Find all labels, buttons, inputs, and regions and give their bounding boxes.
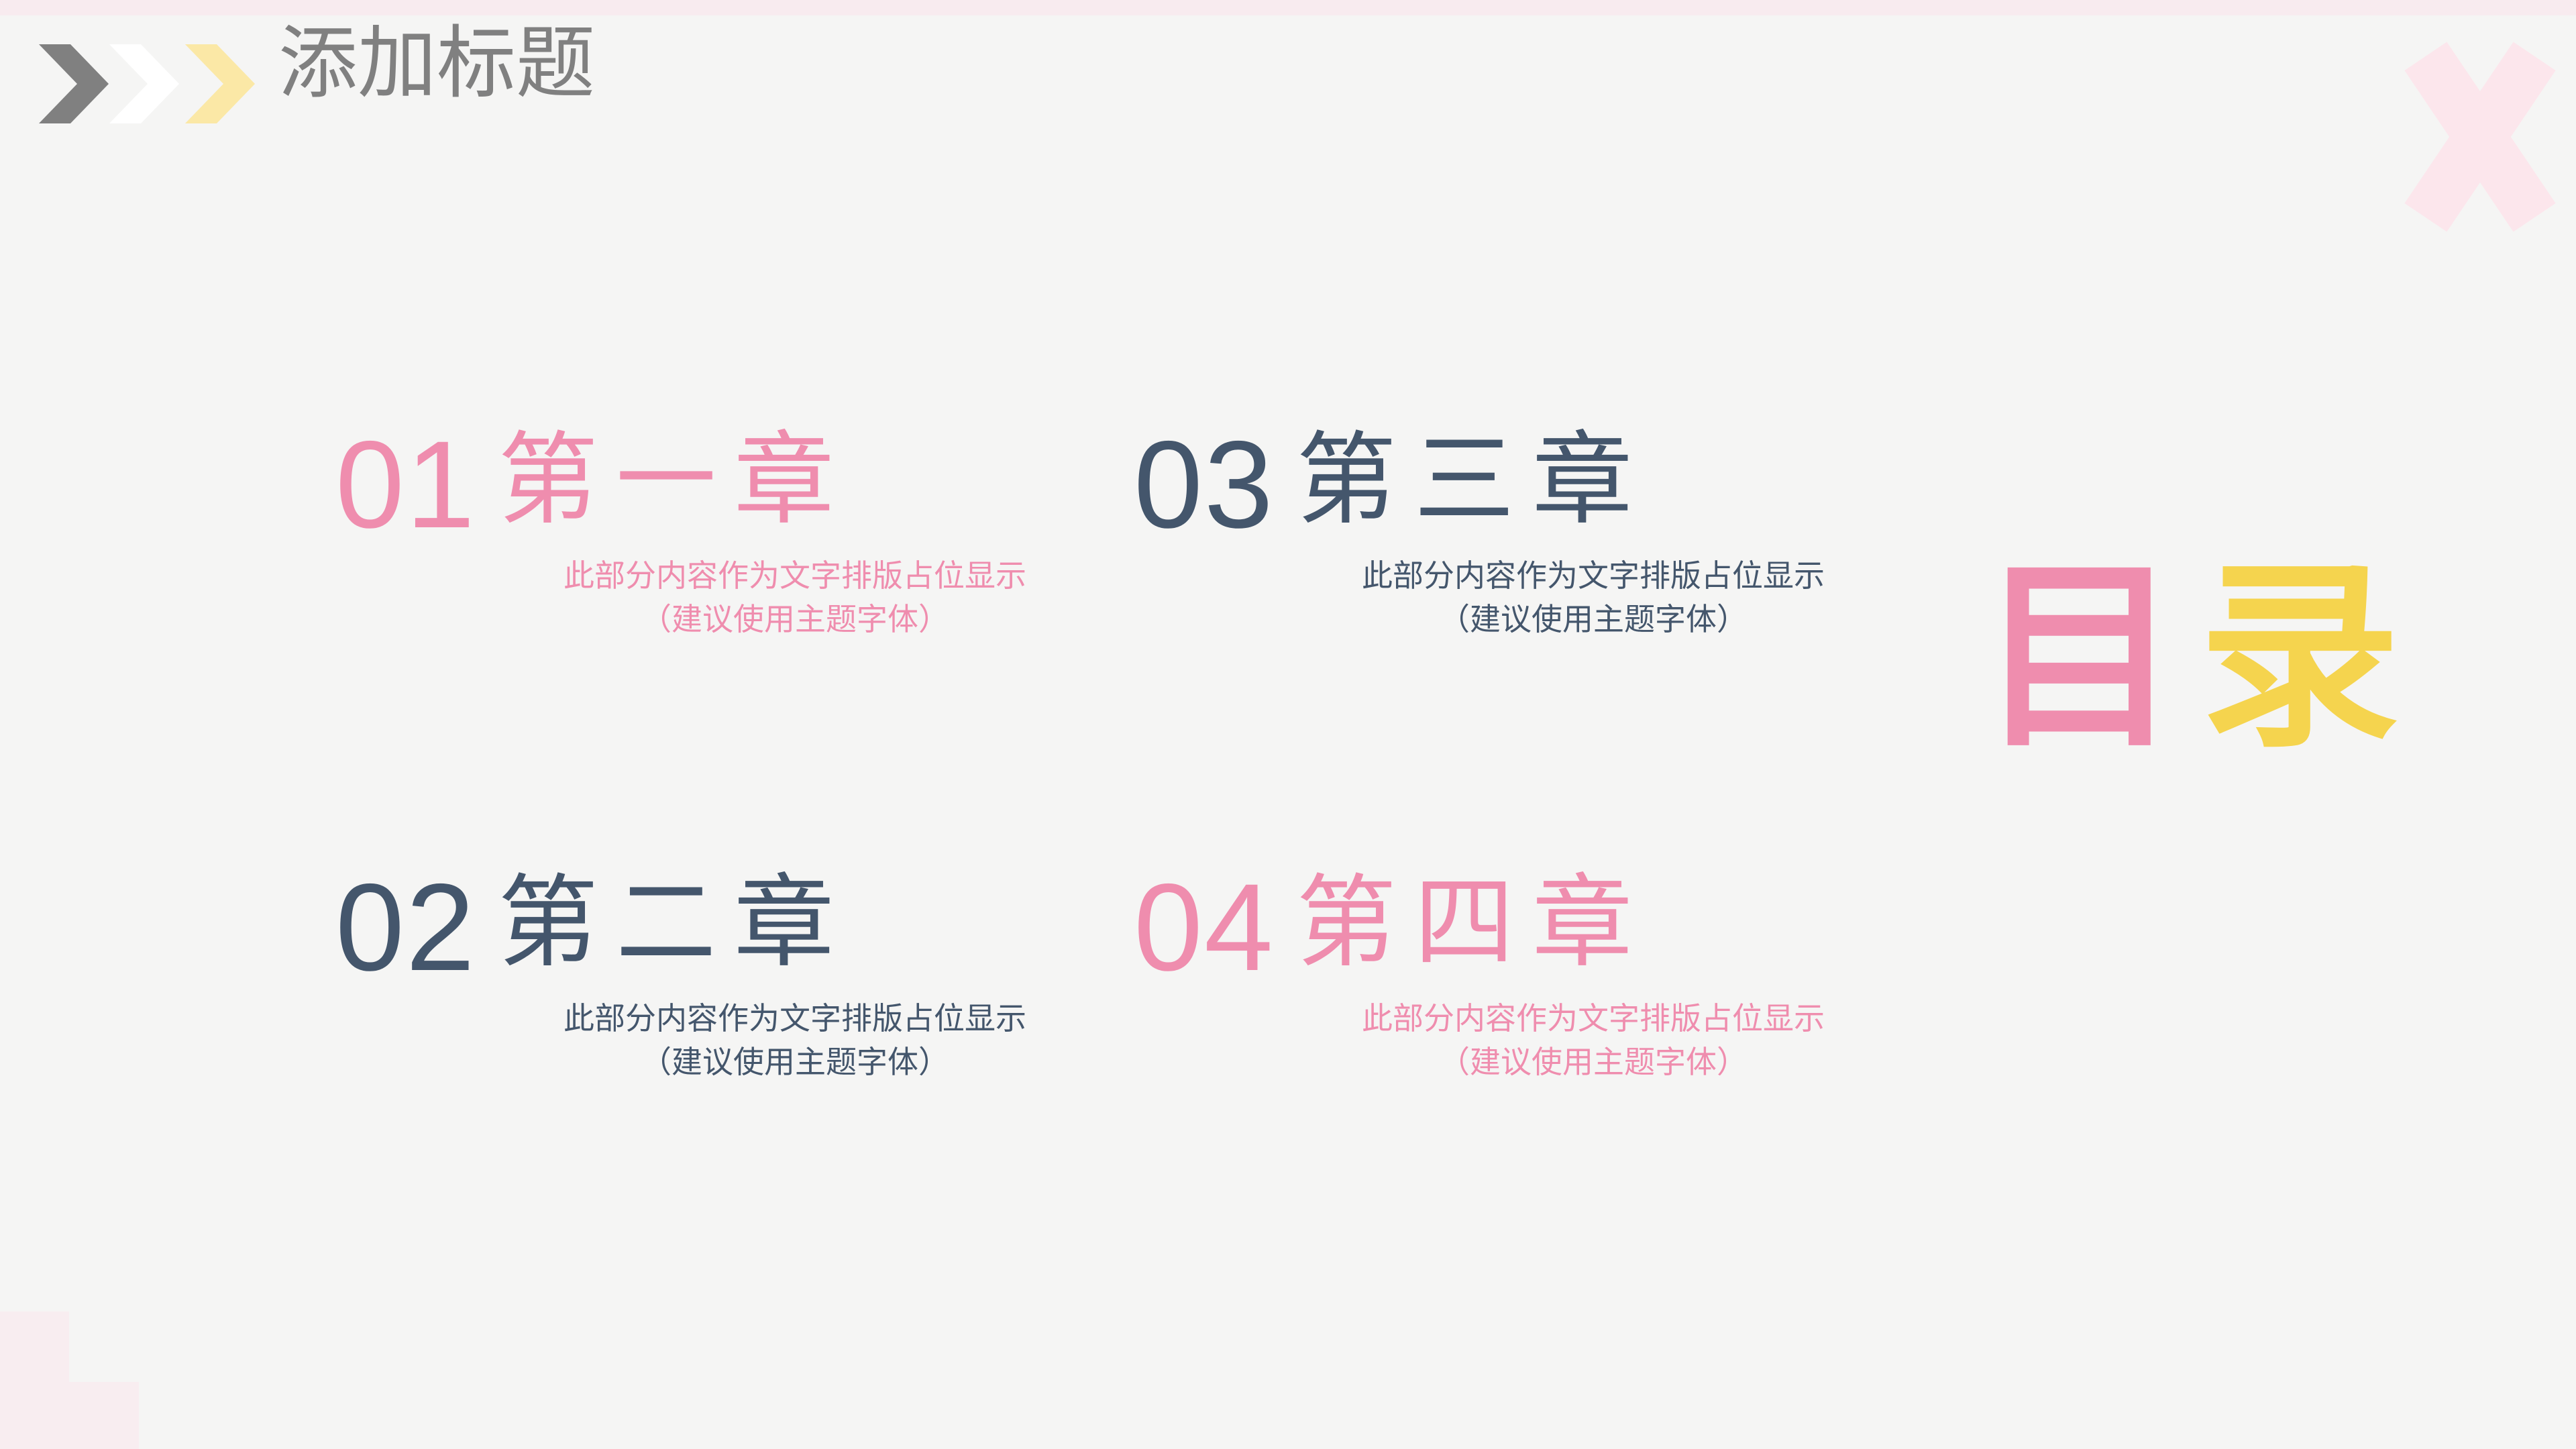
chapter-title: 第一章 bbox=[476, 429, 852, 550]
chapter-description-line-1: 此部分内容作为文字排版占位显示 bbox=[1362, 558, 1825, 593]
chapter-heading: 01 第一章 bbox=[335, 349, 1127, 550]
slide-canvas: 添加标题 01 第一章 此部分内容作为文字排版占位显示 （建议使用主题字体） 0… bbox=[0, 0, 2576, 1449]
toc-heading-char-2: 录 bbox=[2199, 545, 2419, 770]
chapter-description-line-1: 此部分内容作为文字排版占位显示 bbox=[1362, 1001, 1825, 1036]
chapter-item-04[interactable]: 04 第四章 此部分内容作为文字排版占位显示 （建议使用主题字体） bbox=[1134, 792, 1925, 1085]
chapter-item-03[interactable]: 03 第三章 此部分内容作为文字排版占位显示 （建议使用主题字体） bbox=[1134, 349, 1925, 642]
toc-heading-char-1: 目 bbox=[1979, 545, 2199, 770]
chapter-description: 此部分内容作为文字排版占位显示 （建议使用主题字体） bbox=[335, 554, 1127, 642]
chapter-description-line-2: （建议使用主题字体） bbox=[463, 1040, 1127, 1084]
chapter-description-line-2: （建议使用主题字体） bbox=[463, 598, 1127, 641]
chapter-item-02[interactable]: 02 第二章 此部分内容作为文字排版占位显示 （建议使用主题字体） bbox=[335, 792, 1127, 1085]
chapter-description: 此部分内容作为文字排版占位显示 （建议使用主题字体） bbox=[335, 997, 1127, 1085]
chapter-description-line-1: 此部分内容作为文字排版占位显示 bbox=[563, 558, 1026, 593]
chapter-heading: 04 第四章 bbox=[1134, 792, 1925, 993]
chapter-description-line-1: 此部分内容作为文字排版占位显示 bbox=[563, 1001, 1026, 1036]
chapter-number: 04 bbox=[1134, 866, 1275, 993]
chapter-item-01[interactable]: 01 第一章 此部分内容作为文字排版占位显示 （建议使用主题字体） bbox=[335, 349, 1127, 642]
chapter-title: 第四章 bbox=[1275, 872, 1650, 993]
chapter-title: 第二章 bbox=[476, 872, 852, 993]
chapter-description: 此部分内容作为文字排版占位显示 （建议使用主题字体） bbox=[1134, 554, 1925, 642]
chapter-number: 02 bbox=[335, 866, 476, 993]
chapter-heading: 03 第三章 bbox=[1134, 349, 1925, 550]
chapter-number: 01 bbox=[335, 423, 476, 550]
chapter-heading: 02 第二章 bbox=[335, 792, 1127, 993]
chapter-title: 第三章 bbox=[1275, 429, 1650, 550]
toc-heading: 目录 bbox=[1979, 557, 2419, 758]
chapter-number: 03 bbox=[1134, 423, 1275, 550]
chapter-description-line-2: （建议使用主题字体） bbox=[1261, 598, 1925, 641]
chapter-description-line-2: （建议使用主题字体） bbox=[1261, 1040, 1925, 1084]
chapter-description: 此部分内容作为文字排版占位显示 （建议使用主题字体） bbox=[1134, 997, 1925, 1085]
